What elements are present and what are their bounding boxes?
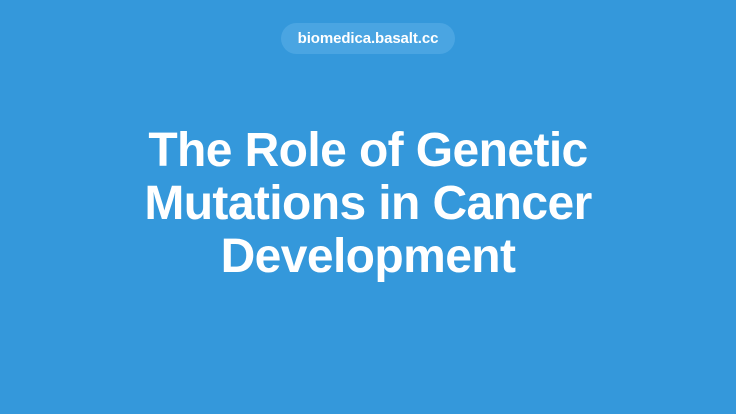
page-title-line-2: Mutations in Cancer — [60, 177, 676, 230]
domain-badge[interactable]: biomedica.basalt.cc — [281, 23, 456, 54]
title-card: biomedica.basalt.cc The Role of Genetic … — [0, 0, 736, 414]
page-title-line-1: The Role of Genetic — [60, 124, 676, 177]
badge-row: biomedica.basalt.cc — [0, 23, 736, 54]
headline-block: The Role of Genetic Mutations in Cancer … — [0, 124, 736, 283]
page-title: The Role of Genetic Mutations in Cancer … — [60, 124, 676, 283]
page-title-line-3: Development — [60, 230, 676, 283]
domain-badge-label: biomedica.basalt.cc — [298, 31, 439, 46]
